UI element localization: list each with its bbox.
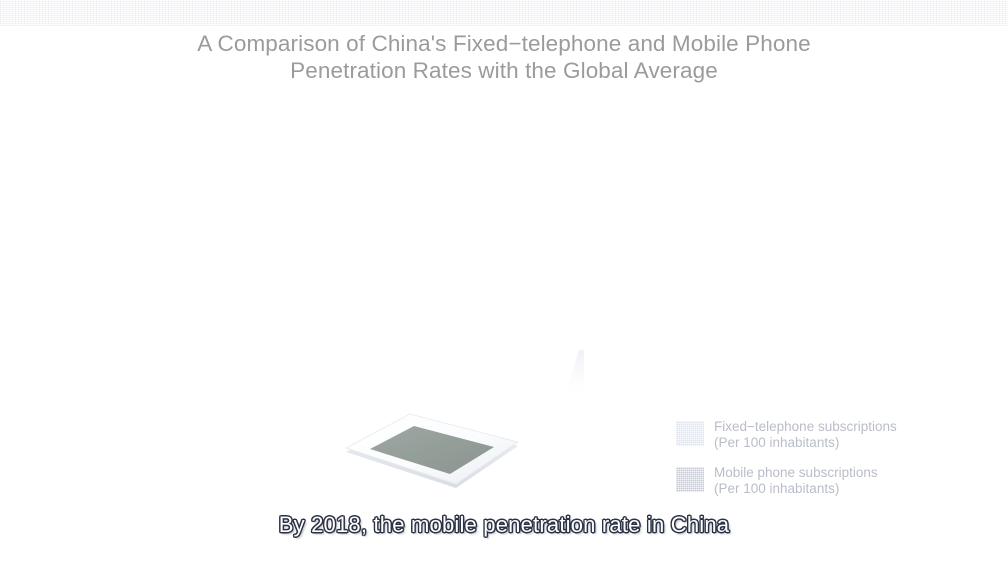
legend-label-fixed-telephone: Fixed−telephone subscriptions (Per 100 i… <box>714 418 897 450</box>
legend-label-mobile-phone: Mobile phone subscriptions (Per 100 inha… <box>714 464 878 496</box>
legend-item-mobile-phone: Mobile phone subscriptions (Per 100 inha… <box>676 464 976 496</box>
legend-item-fixed-telephone: Fixed−telephone subscriptions (Per 100 i… <box>676 418 976 450</box>
chart-plot-area <box>60 105 940 405</box>
caption-text: By 2018, the mobile penetration rate in … <box>0 510 1008 540</box>
background-noise-texture <box>0 0 1008 26</box>
legend-swatch-mobile-phone <box>676 467 704 492</box>
chart-legend: Fixed−telephone subscriptions (Per 100 i… <box>676 418 976 510</box>
legend-swatch-fixed-telephone <box>676 421 704 446</box>
page-title: A Comparison of China's Fixed−telephone … <box>0 30 1008 84</box>
tablet-device-icon <box>336 406 526 500</box>
video-frame: A Comparison of China's Fixed−telephone … <box>0 0 1008 567</box>
